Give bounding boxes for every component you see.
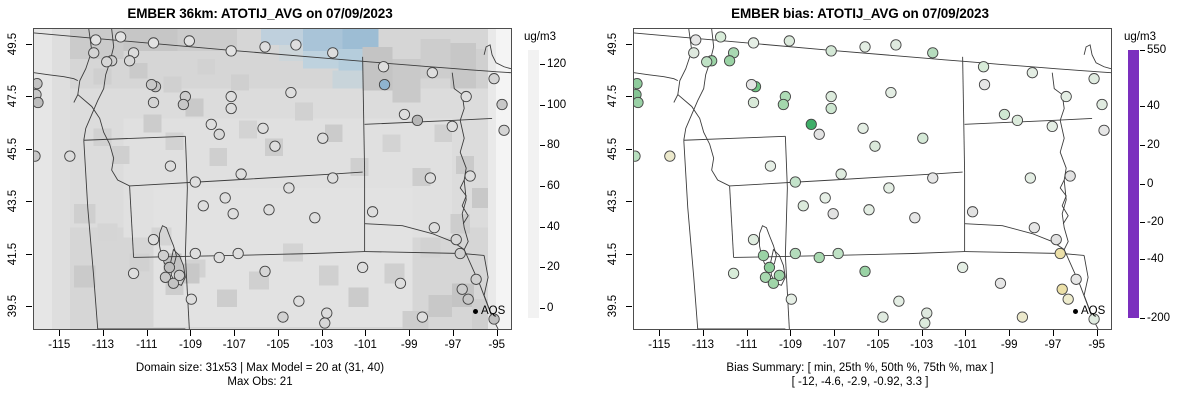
y-tick [26, 149, 32, 150]
y-tick-label: 45.5 [7, 138, 19, 160]
colorbar-tick [1140, 106, 1145, 107]
colorbar-tick-label: 550 [1147, 44, 1166, 56]
caption-bias-line2: [ -12, -4.6, -2.9, -0.92, 3.3 ] [600, 376, 1120, 390]
x-tick [878, 330, 879, 336]
x-tick [965, 330, 966, 336]
x-tick-label: -97 [445, 339, 462, 351]
x-tick [278, 330, 279, 336]
colorbar-tick-label: 20 [547, 261, 560, 273]
station-markers-model [34, 29, 511, 329]
x-tick [453, 330, 454, 336]
x-tick [322, 330, 323, 336]
station-markers-bias [634, 29, 1111, 329]
colorbar-tick-label: 0 [547, 302, 553, 314]
x-tick-label: -101 [954, 339, 977, 351]
colorbar-tick [540, 145, 545, 146]
y-tick [26, 44, 32, 45]
x-tick [365, 330, 366, 336]
y-tick-label: 39.5 [7, 295, 19, 317]
x-tick-label: -99 [1001, 339, 1018, 351]
x-tick [922, 330, 923, 336]
x-tick [747, 330, 748, 336]
x-tick-label: -113 [692, 339, 714, 351]
x-tick-label: -99 [401, 339, 418, 351]
aqs-legend-label: AQS [1081, 305, 1105, 317]
y-tick-label: 41.5 [607, 243, 619, 265]
y-tick-label: 43.5 [7, 190, 19, 212]
y-tick-label: 49.5 [607, 33, 619, 55]
x-tick-label: -103 [910, 339, 933, 351]
colorbar-tick-label: 0 [1147, 178, 1153, 190]
y-tick-label: 49.5 [7, 33, 19, 55]
colorbar-tick-label: -200 [1147, 312, 1170, 324]
colorbar-tick-label: 100 [547, 99, 566, 111]
x-tick [409, 330, 410, 336]
colorbar-tick [1140, 145, 1145, 146]
y-axis-model: 39.541.543.545.547.549.5 [0, 28, 33, 330]
x-tick-label: -115 [48, 339, 70, 351]
colorbar-tick [1140, 259, 1145, 260]
x-tick [497, 330, 498, 336]
x-tick [234, 330, 235, 336]
colorbar-units-model: ug/m3 [524, 31, 556, 43]
x-tick [659, 330, 660, 336]
y-tick [26, 254, 32, 255]
x-tick-label: -113 [92, 339, 114, 351]
x-tick-label: -115 [648, 339, 670, 351]
colorbar-tick-label: -20 [1147, 216, 1164, 228]
colorbar-tick [540, 227, 545, 228]
caption-model-line2: Max Obs: 21 [0, 376, 520, 390]
colorbar-tick-label: 40 [1147, 100, 1160, 112]
caption-model-line1: Domain size: 31x53 | Max Model = 20 at (… [0, 362, 520, 376]
map-plot-model[interactable] [33, 28, 512, 330]
x-tick [147, 330, 148, 336]
caption-bias-line1: Bias Summary: [ min, 25th %, 50th %, 75t… [600, 362, 1120, 376]
y-tick-label: 39.5 [607, 295, 619, 317]
x-tick [1097, 330, 1098, 336]
colorbar-tick-label: 60 [547, 180, 560, 192]
colorbar-tick-label: 20 [1147, 139, 1160, 151]
x-tick-label: -97 [1045, 339, 1062, 351]
x-tick [834, 330, 835, 336]
colorbar-tick [1140, 318, 1145, 319]
x-tick [190, 330, 191, 336]
panel-title-bias: EMBER bias: ATOTIJ_AVG on 07/09/2023 [600, 6, 1120, 21]
colorbar-model: ug/m3 020406080100120 [520, 28, 598, 330]
y-tick [26, 201, 32, 202]
x-tick [103, 330, 104, 336]
x-tick [1009, 330, 1010, 336]
y-tick [26, 306, 32, 307]
caption-model: Domain size: 31x53 | Max Model = 20 at (… [0, 362, 520, 389]
aqs-legend-model: AQS [473, 305, 505, 317]
x-tick [1053, 330, 1054, 336]
x-tick-label: -109 [779, 339, 802, 351]
colorbar-tick-label: -40 [1147, 253, 1164, 265]
figure-root: EMBER 36km: ATOTIJ_AVG on 07/09/2023 [0, 0, 1200, 409]
colorbar-tick [540, 267, 545, 268]
x-tick-label: -111 [736, 339, 757, 351]
colorbar-gradient-bias [1128, 50, 1139, 318]
panel-model: EMBER 36km: ATOTIJ_AVG on 07/09/2023 [0, 0, 600, 409]
panel-title-model: EMBER 36km: ATOTIJ_AVG on 07/09/2023 [0, 6, 520, 21]
colorbar-gradient-model [528, 50, 539, 318]
colorbar-bias: ug/m3 -200-40-2002040550 [1120, 28, 1200, 330]
x-tick-label: -103 [310, 339, 333, 351]
y-tick-label: 43.5 [607, 190, 619, 212]
y-axis-bias: 39.541.543.545.547.549.5 [600, 28, 633, 330]
colorbar-tick-label: 80 [547, 139, 560, 151]
aqs-dot-icon [1073, 309, 1078, 314]
y-tick [626, 201, 632, 202]
colorbar-tick [540, 186, 545, 187]
y-tick [626, 96, 632, 97]
y-tick-label: 47.5 [607, 85, 619, 107]
y-tick [626, 149, 632, 150]
y-tick [626, 306, 632, 307]
colorbar-tick [1140, 184, 1145, 185]
colorbar-tick [1140, 50, 1145, 51]
x-axis-model: -115-113-111-109-107-105-103-101-99-97-9… [33, 330, 512, 364]
colorbar-tick [540, 308, 545, 309]
x-tick-label: -111 [136, 339, 157, 351]
colorbar-tick [540, 64, 545, 65]
y-tick [626, 44, 632, 45]
x-tick-label: -107 [223, 339, 246, 351]
x-tick [790, 330, 791, 336]
aqs-dot-icon [473, 309, 478, 314]
x-tick-label: -107 [823, 339, 846, 351]
x-tick [703, 330, 704, 336]
panel-bias: EMBER bias: ATOTIJ_AVG on 07/09/2023 [600, 0, 1200, 409]
y-tick [626, 254, 632, 255]
x-tick-label: -95 [1088, 339, 1105, 351]
x-tick-label: -109 [179, 339, 202, 351]
x-axis-bias: -115-113-111-109-107-105-103-101-99-97-9… [633, 330, 1112, 364]
aqs-legend-label: AQS [481, 305, 505, 317]
colorbar-tick [1140, 222, 1145, 223]
x-tick-label: -105 [866, 339, 889, 351]
y-tick-label: 41.5 [7, 243, 19, 265]
caption-bias: Bias Summary: [ min, 25th %, 50th %, 75t… [600, 362, 1120, 389]
map-plot-bias[interactable] [633, 28, 1112, 330]
colorbar-units-bias: ug/m3 [1124, 31, 1156, 43]
x-tick-label: -101 [354, 339, 377, 351]
colorbar-tick-label: 120 [547, 58, 566, 70]
colorbar-tick-label: 40 [547, 221, 560, 233]
x-tick [59, 330, 60, 336]
x-tick-label: -105 [266, 339, 289, 351]
x-tick-label: -95 [488, 339, 505, 351]
y-tick-label: 47.5 [7, 85, 19, 107]
y-tick-label: 45.5 [607, 138, 619, 160]
aqs-legend-bias: AQS [1073, 305, 1105, 317]
y-tick [26, 96, 32, 97]
colorbar-tick [540, 105, 545, 106]
